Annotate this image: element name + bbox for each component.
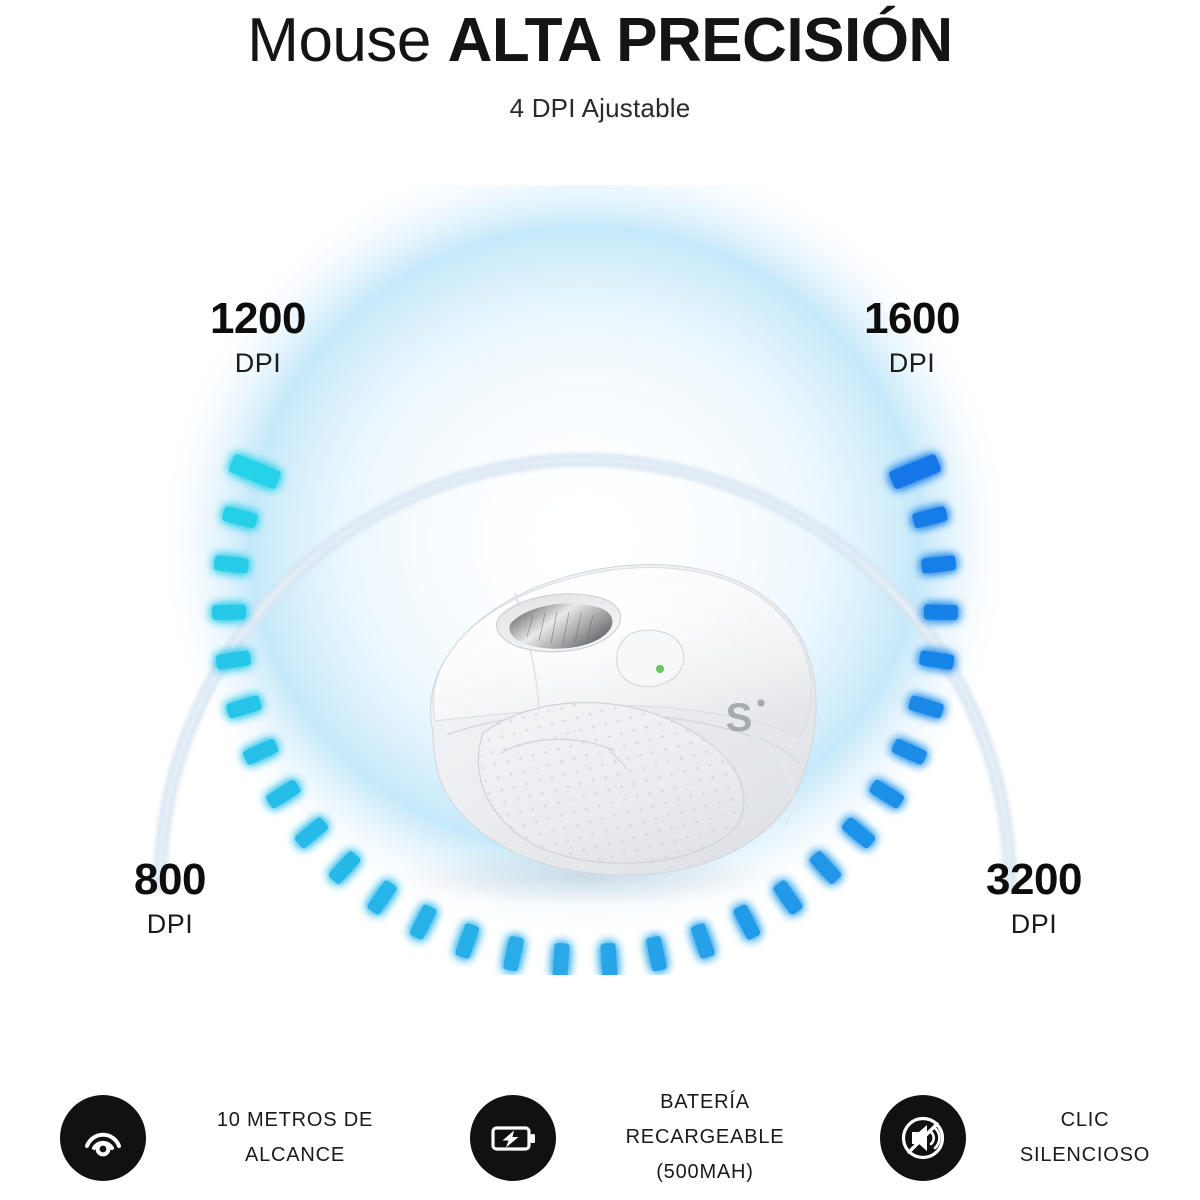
arc-tick [503, 936, 525, 972]
arc-tick [552, 943, 569, 975]
rechargeable-battery-icon [470, 1095, 556, 1181]
dpi-value: 800 [90, 858, 250, 902]
led-indicator-icon [656, 665, 664, 673]
arc-tick [212, 604, 246, 620]
arc-tick [455, 922, 480, 959]
arc-tick [600, 943, 617, 975]
feature-line: BATERÍA [566, 1085, 844, 1120]
dpi-value: 1200 [178, 297, 338, 341]
page-title: Mouse ALTA PRECISIÓN [0, 0, 1200, 75]
feature-line: ALCANCE [156, 1138, 434, 1173]
arc-tick [732, 904, 761, 941]
dpi-dial-stage: 1200 DPI 1600 DPI 800 DPI 3200 DPI [0, 185, 1200, 975]
dpi-value: 3200 [944, 858, 1124, 902]
feature-strip: 10 METROS DE ALCANCE BATERÍA RECARGEABLE… [0, 1075, 1200, 1200]
product-image-mouse: S [315, 485, 855, 905]
wireless-signal-icon [60, 1095, 146, 1181]
arc-tick [646, 936, 668, 972]
brand-logo-dot-icon [757, 699, 764, 706]
feature-label-battery: BATERÍA RECARGEABLE (500MAH) [556, 1085, 850, 1190]
dpi-value: 1600 [832, 297, 992, 341]
feature-line: RECARGEABLE [566, 1120, 844, 1155]
dpi-unit: DPI [90, 911, 250, 938]
feature-line: (500MAH) [566, 1155, 844, 1190]
feature-label-range: 10 METROS DE ALCANCE [146, 1103, 440, 1173]
feature-line: CLIC [976, 1103, 1194, 1138]
dpi-button[interactable] [617, 630, 684, 686]
arc-tick [690, 922, 715, 959]
mute-speaker-icon [880, 1095, 966, 1181]
page-title-light: Mouse [247, 6, 447, 75]
dpi-label-3200: 3200 DPI [944, 858, 1124, 938]
feature-line: SILENCIOSO [976, 1138, 1194, 1173]
feature-item-battery: BATERÍA RECARGEABLE (500MAH) [470, 1075, 850, 1200]
dpi-label-800: 800 DPI [90, 858, 250, 938]
dpi-label-1200: 1200 DPI [178, 297, 338, 377]
dpi-unit: DPI [832, 350, 992, 377]
brand-logo: S [726, 696, 753, 740]
feature-label-silent-click: CLIC SILENCIOSO [966, 1103, 1200, 1173]
dpi-unit: DPI [178, 350, 338, 377]
arc-tick [409, 904, 438, 941]
page-title-bold: ALTA PRECISIÓN [448, 6, 953, 75]
feature-item-range: 10 METROS DE ALCANCE [60, 1075, 440, 1200]
dpi-unit: DPI [944, 911, 1124, 938]
product-infographic: Mouse ALTA PRECISIÓN 4 DPI Ajustable [0, 0, 1200, 1200]
arc-tick [924, 604, 958, 620]
feature-item-silent-click: CLIC SILENCIOSO [880, 1075, 1200, 1200]
feature-line: 10 METROS DE [156, 1103, 434, 1138]
dpi-label-1600: 1600 DPI [832, 297, 992, 377]
page-subtitle: 4 DPI Ajustable [0, 75, 1200, 124]
header: Mouse ALTA PRECISIÓN 4 DPI Ajustable [0, 0, 1200, 124]
